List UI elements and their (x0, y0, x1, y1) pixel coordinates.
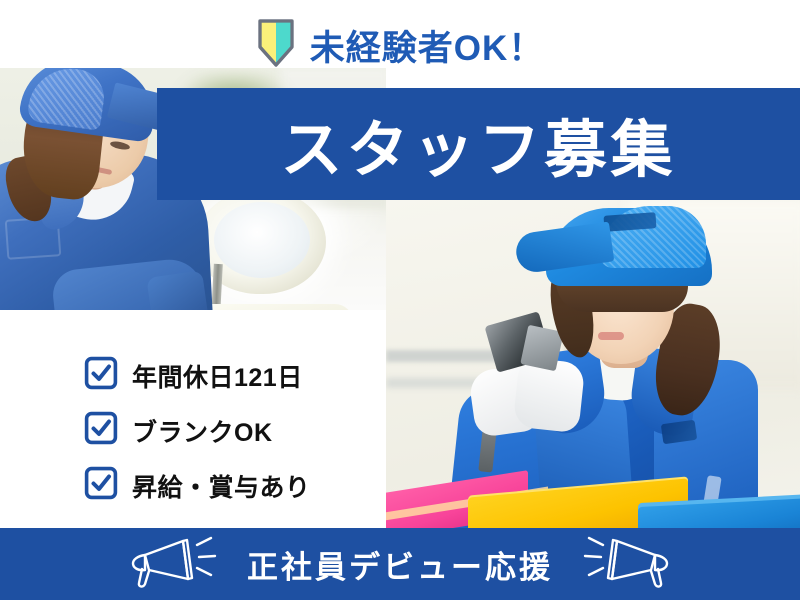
worker-inspecting-part-photo (386, 200, 800, 528)
top-headline-row: 未経験者OK！ (0, 14, 800, 76)
list-item: 昇給・賞与あり (84, 466, 384, 505)
list-item: 年間休日121日 (84, 356, 384, 395)
feature-label: 年間休日121日 (132, 358, 303, 394)
list-item: ブランクOK (84, 411, 384, 450)
shoshinsha-badge-icon (256, 17, 296, 74)
megaphone-icon (579, 535, 675, 594)
checkbox-checked-icon (84, 466, 118, 505)
main-title-band: スタッフ募集 (157, 88, 800, 200)
checkbox-checked-icon (84, 411, 118, 450)
bottom-message-text: 正社員デビュー応援 (247, 542, 553, 587)
megaphone-icon (125, 535, 221, 594)
left-worker-cuff (146, 270, 209, 310)
main-title-text: スタッフ募集 (280, 99, 676, 189)
feature-label: ブランクOK (132, 413, 273, 449)
bottom-message-band: 正社員デビュー応援 (0, 528, 800, 600)
feature-label: 昇給・賞与あり (132, 468, 311, 504)
right-worker-mouth (598, 332, 624, 340)
checkbox-checked-icon (84, 356, 118, 395)
top-headline-text: 未経験者OK！ (310, 20, 545, 71)
feature-list: 年間休日121日 ブランクOK 昇給・賞与あり (84, 356, 384, 505)
magnifier-lens (214, 202, 310, 278)
recruitment-banner: 未経験者OK！ スタッフ募集 年間休日121日 ブランクOK (0, 0, 800, 600)
